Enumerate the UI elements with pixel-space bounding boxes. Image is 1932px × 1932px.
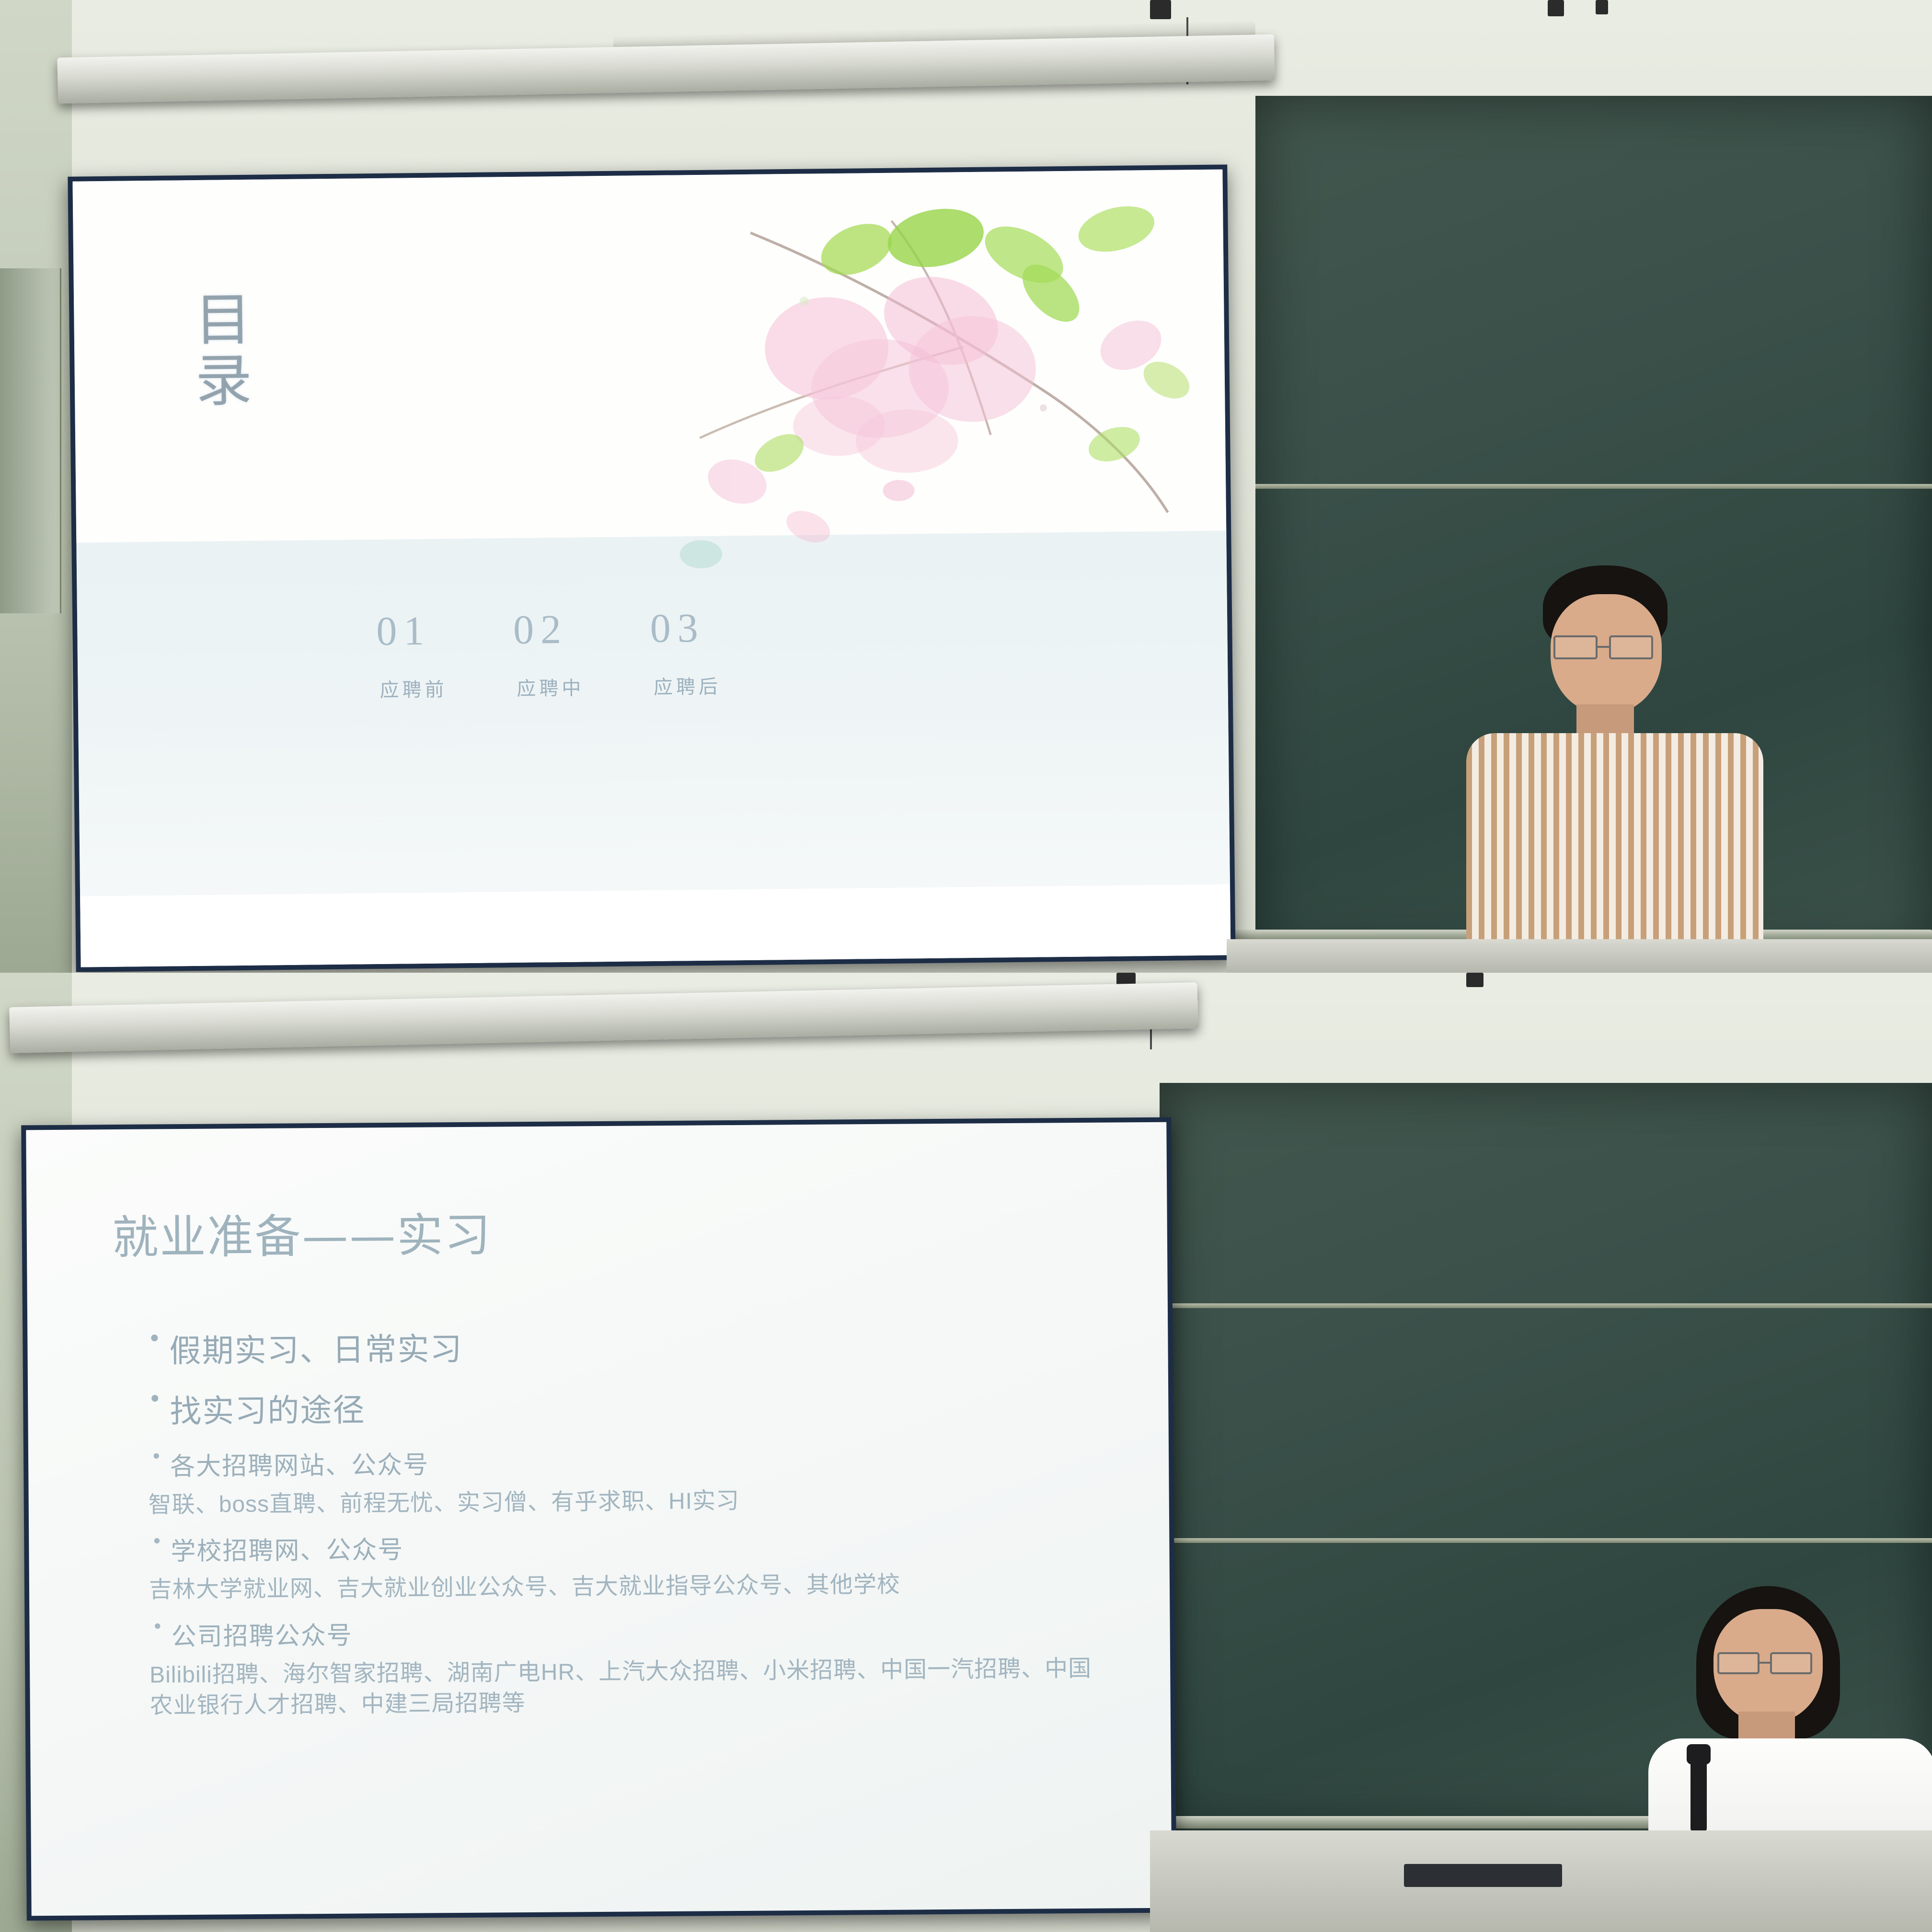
contents-number: 01 [376,609,447,652]
projector-screen-top: 目 录 01 应聘前 02 应聘中 03 应聘后 [68,164,1235,972]
slide-contents: 目 录 01 应聘前 02 应聘中 03 应聘后 [72,169,1230,967]
bullet-level1: 假期实习、日常实习 [147,1319,1111,1372]
glasses-icon [1553,635,1664,661]
slide-internship: 就业准备——实习 假期实习、日常实习 找实习的途径 各大招聘网站、公众号 智联、… [26,1122,1172,1916]
glasses-icon [1717,1652,1824,1676]
contents-item-01[interactable]: 01 应聘前 [376,609,448,702]
title-char-1: 目 [195,289,253,351]
wall-left-panel-top [0,268,61,613]
bullet-level2: 各大招聘网站、公众号 [148,1440,1112,1483]
chalkboard-rail-upper-top [1255,484,1932,489]
microphone-head [1687,1744,1711,1764]
contents-item-02[interactable]: 02 应聘中 [513,608,585,701]
contents-item-03[interactable]: 03 应聘后 [650,607,721,700]
bullet-level3: 智联、boss直聘、前程无忧、实习僧、有乎求职、HI实习 [148,1483,1112,1521]
slide1-footer-band [80,885,1230,967]
laptop-on-desk [1404,1864,1562,1887]
photo-panel-bottom: 就业准备——实习 假期实习、日常实习 找实习的途径 各大招聘网站、公众号 智联、… [0,973,1932,1932]
page-title: 目 录 [195,289,253,412]
contents-item-list: 01 应聘前 02 应聘中 03 应聘后 [376,602,1159,702]
page-title: 就业准备——实习 [112,1197,492,1267]
contents-label: 应聘前 [379,674,448,702]
bullet-level2: 公司招聘公众号 [149,1610,1113,1652]
ceiling-clip-b-top [1548,0,1564,16]
projector-screen-bottom: 就业准备——实习 假期实习、日常实习 找实习的途径 各大招聘网站、公众号 智联、… [21,1117,1177,1921]
bullet-level1: 找实习的途径 [148,1380,1112,1432]
contents-number: 02 [513,608,584,650]
chalkboard-rail-mid-bottom [1160,1538,1932,1543]
ceiling-clip-b-bottom [1466,973,1483,987]
floral-branch-icon [670,169,1205,646]
presenter-top [1447,565,1782,973]
contents-label: 应聘后 [654,671,722,699]
bullet-list: 假期实习、日常实习 找实习的途径 各大招聘网站、公众号 智联、boss直聘、前程… [147,1319,1114,1732]
ceiling-clip-a-top [1150,0,1171,19]
photo-panel-top: 目 录 01 应聘前 02 应聘中 03 应聘后 [0,0,1932,973]
contents-label: 应聘中 [517,672,585,701]
microphone-icon [1690,1755,1707,1831]
torso [1466,733,1763,973]
front-desk-top [1227,939,1932,973]
bullet-level3: Bilibili招聘、海尔智家招聘、湖南广电HR、上汽大众招聘、小米招聘、中国一… [149,1653,1114,1722]
contents-number: 03 [650,607,721,649]
bullet-level2: 学校招聘网、公众号 [149,1525,1113,1567]
title-char-2: 录 [195,351,253,413]
striped-shirt [1466,733,1763,973]
ceiling-clip-c-top [1596,0,1608,14]
chalkboard-rail-upper-bottom [1160,1303,1932,1308]
bullet-level3: 吉林大学就业网、吉大就业创业公众号、吉大就业指导公众号、其他学校 [149,1568,1113,1606]
